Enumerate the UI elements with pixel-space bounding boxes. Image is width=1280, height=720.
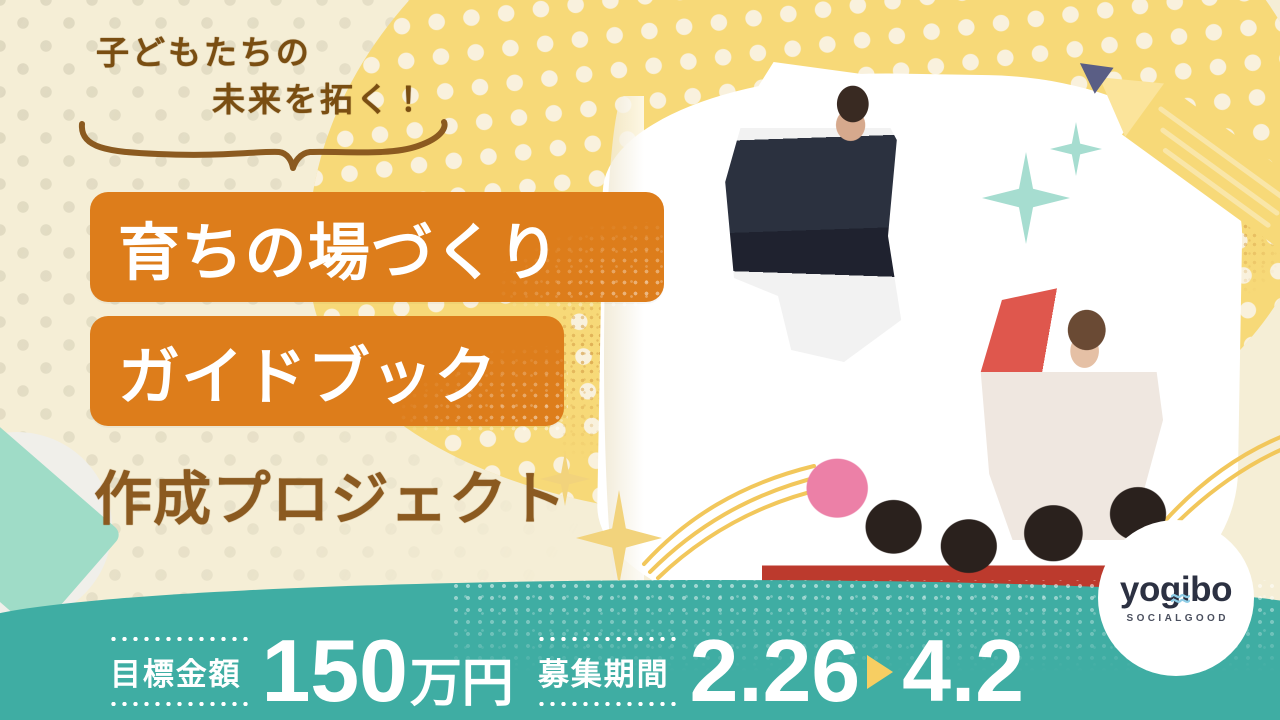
subtitle: 作成プロジェクト: [94, 452, 567, 536]
period-end-date: 4.2: [902, 631, 1024, 712]
period-label: 募集期間: [536, 635, 671, 708]
yogibo-wordmark: yogibo: [1120, 572, 1232, 607]
yogibo-tagline: SOCIALGOOD: [1123, 614, 1229, 624]
yogibo-logo: yogibo SOCIALGOOD: [1098, 520, 1254, 676]
brace-decoration: [72, 118, 472, 178]
goal-amount-stat: 目標金額 150 万円: [108, 631, 514, 712]
period-value: 2.26 4.2: [689, 631, 1024, 712]
goal-amount-label: 目標金額: [108, 635, 243, 708]
title-pill-primary: 育ちの場づくり: [90, 192, 664, 302]
title-line-1: 育ちの場づくり: [118, 202, 561, 292]
eyebrow-line-2: 未来を拓く！: [96, 77, 428, 124]
arrow-right-icon: [867, 655, 893, 689]
title-pill-secondary: ガイドブック: [90, 316, 564, 426]
period-stat: 募集期間 2.26 4.2: [536, 631, 1024, 712]
title-line-2: ガイドブック: [118, 326, 497, 416]
sparkle-icon-small: [1050, 122, 1102, 176]
campaign-banner: 子どもたちの 未来を拓く！ 育ちの場づくり ガイドブック 作成プロジェクト 目標…: [0, 0, 1280, 720]
eyebrow-line-1: 子どもたちの: [96, 34, 312, 71]
goal-amount-number: 150: [261, 631, 407, 712]
goal-amount-unit: 万円: [410, 661, 514, 709]
eyebrow-copy: 子どもたちの 未来を拓く！: [96, 30, 428, 124]
yogibo-wave-icon: [1171, 592, 1190, 604]
goal-amount-value: 150 万円: [261, 631, 513, 712]
period-start-date: 2.26: [689, 631, 860, 712]
